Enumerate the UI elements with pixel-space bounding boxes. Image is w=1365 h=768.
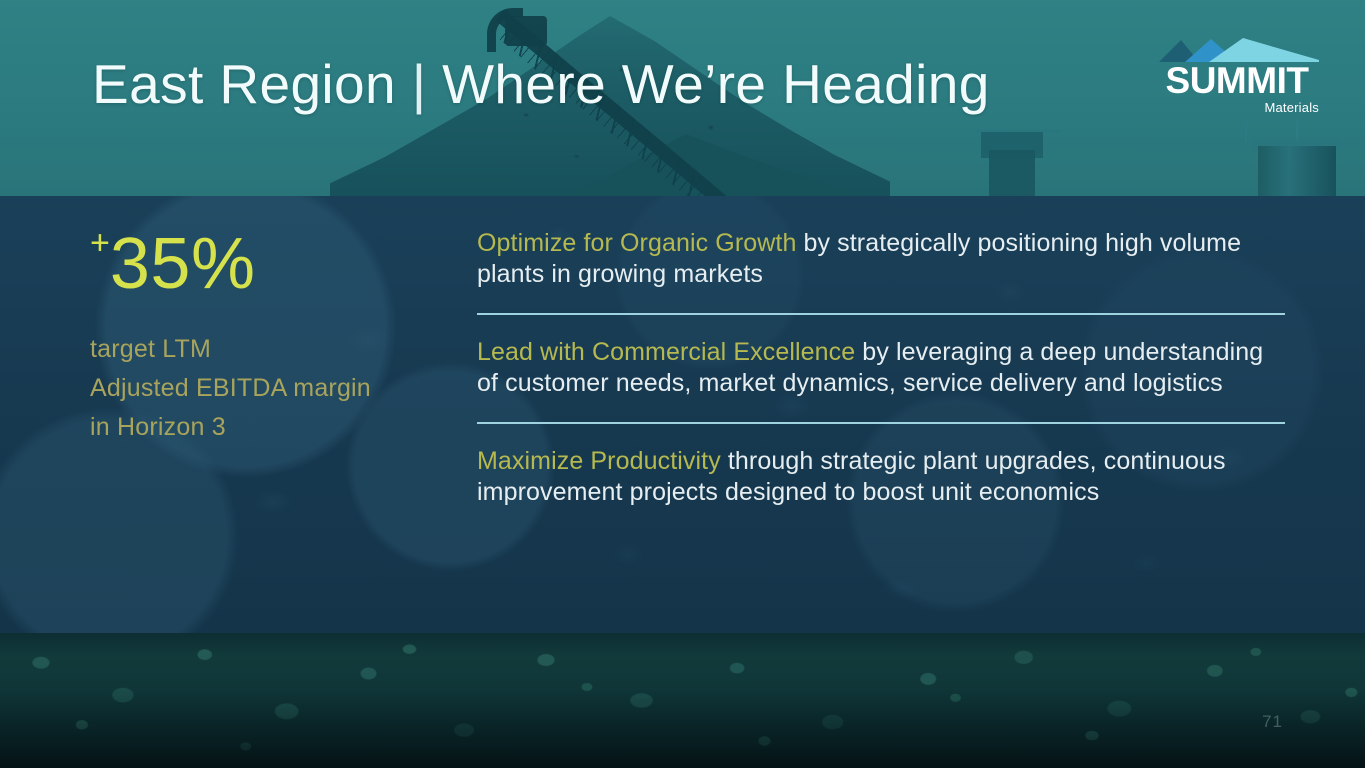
title-sub-text: Where We’re Heading bbox=[442, 53, 990, 115]
statistic-caption-line-1: target LTM bbox=[90, 330, 450, 369]
key-statistic-block: +35% target LTM Adjusted EBITDA margin i… bbox=[90, 226, 450, 447]
statistic-caption-line-2: Adjusted EBITDA margin bbox=[90, 369, 450, 408]
logo-subtext: Materials bbox=[1153, 100, 1321, 115]
footer-vignette bbox=[0, 690, 1365, 768]
bullet-item-3: Maximize Productivity through strategic … bbox=[477, 446, 1287, 508]
statistic-number: 35% bbox=[110, 224, 256, 304]
strategy-bullet-list: Optimize for Organic Growth by strategic… bbox=[477, 228, 1287, 508]
bullet-1-lead: Optimize for Organic Growth bbox=[477, 229, 796, 257]
page-number: 71 bbox=[1262, 712, 1283, 732]
statistic-plus-sign: + bbox=[90, 224, 110, 262]
divider-rule-1 bbox=[477, 313, 1285, 315]
antenna-mast-left bbox=[1245, 122, 1247, 142]
antenna-mast-right bbox=[1296, 118, 1298, 142]
presentation-slide: East Region | Where We’re Heading SUMMIT… bbox=[0, 0, 1365, 768]
bullet-2-lead: Lead with Commercial Excellence bbox=[477, 338, 855, 366]
summit-materials-logo: SUMMIT Materials bbox=[1153, 38, 1321, 116]
page-title: East Region | Where We’re Heading bbox=[92, 52, 990, 116]
statistic-caption-line-3: in Horizon 3 bbox=[90, 408, 450, 447]
bullet-item-1: Optimize for Organic Growth by strategic… bbox=[477, 228, 1287, 290]
bullet-item-2: Lead with Commercial Excellence by lever… bbox=[477, 337, 1287, 399]
divider-rule-2 bbox=[477, 422, 1285, 424]
footer-gravel-band bbox=[0, 633, 1365, 768]
storage-silo-graphic bbox=[1258, 146, 1336, 196]
processing-tower-graphic bbox=[975, 128, 1061, 196]
title-separator: | bbox=[412, 53, 427, 115]
title-main-text: East Region bbox=[92, 53, 396, 115]
statistic-caption: target LTM Adjusted EBITDA margin in Hor… bbox=[90, 330, 450, 447]
logo-wordmark: SUMMIT bbox=[1153, 62, 1321, 99]
statistic-value: +35% bbox=[90, 226, 450, 300]
bullet-3-lead: Maximize Productivity bbox=[477, 447, 721, 475]
tower-support-legs bbox=[991, 184, 1035, 196]
